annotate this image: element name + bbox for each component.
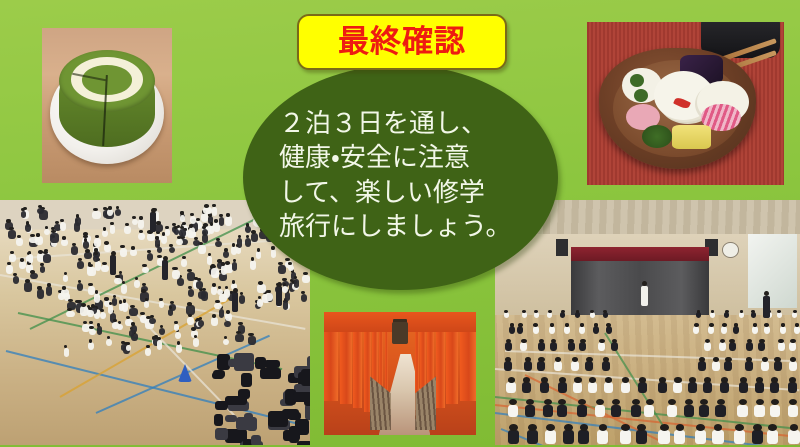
student-r-head-0-20 xyxy=(777,310,781,313)
student-4-27 xyxy=(221,265,227,275)
student-1-66 xyxy=(159,301,164,308)
student-r-head-4-7 xyxy=(622,377,629,383)
student-head-2-0 xyxy=(165,226,168,229)
torii-hanging-lantern xyxy=(392,322,407,344)
student-0-32 xyxy=(110,225,116,235)
student-r-head-4-9 xyxy=(659,377,666,383)
luggage-22 xyxy=(255,357,267,369)
cake-scene xyxy=(42,28,172,183)
student-head-0-0 xyxy=(103,227,106,230)
student-head-2-33 xyxy=(156,221,161,224)
student-r-2-0 xyxy=(505,342,512,351)
student-r-head-2-17 xyxy=(759,339,765,343)
gym-window xyxy=(748,234,797,308)
student-r-1-7 xyxy=(606,326,612,334)
student-head-0-25 xyxy=(76,214,80,217)
student-head-5-34 xyxy=(150,315,154,318)
student-5-57 xyxy=(122,302,127,312)
student-r-head-0-5 xyxy=(576,310,580,313)
student-r-head-3-2 xyxy=(538,357,544,362)
student-head-0-23 xyxy=(9,227,14,230)
student-r-head-4-15 xyxy=(756,377,763,383)
student-r-head-4-12 xyxy=(704,377,711,383)
student-head-1-50 xyxy=(182,256,186,259)
student-r-head-4-2 xyxy=(541,377,548,383)
student-r-1-4 xyxy=(564,326,570,334)
student-r-6-5 xyxy=(597,430,608,444)
student-r-2-18 xyxy=(778,342,785,351)
student-5-11 xyxy=(219,309,225,318)
luggage-34 xyxy=(214,414,223,425)
student-r-6-7 xyxy=(636,430,647,444)
standing-person-2 xyxy=(232,292,238,312)
student-2-15 xyxy=(161,235,167,244)
student-r-1-3 xyxy=(549,326,555,334)
student-head-5-58 xyxy=(212,314,216,317)
student-head-0-47 xyxy=(26,221,30,224)
student-3-17 xyxy=(203,207,212,214)
student-head-0-34 xyxy=(182,222,186,225)
student-4-4 xyxy=(301,294,308,302)
student-r-head-6-8 xyxy=(660,424,669,431)
student-r-4-8 xyxy=(638,382,647,394)
student-r-head-6-6 xyxy=(621,424,630,431)
student-5-33 xyxy=(193,338,199,348)
student-0-23 xyxy=(8,230,16,239)
student-head-1-24 xyxy=(212,283,216,286)
student-r-2-5 xyxy=(579,342,586,351)
student-r-head-4-4 xyxy=(574,377,581,383)
student-r-5-11 xyxy=(699,405,709,418)
student-head-3-23 xyxy=(210,222,213,225)
luggage-40 xyxy=(289,426,299,442)
student-1-29 xyxy=(71,246,78,255)
slide-canvas: ２泊３日を通し、 健康・安全に注意 して、楽しい修学 旅行にしましょう。 最終確… xyxy=(0,0,800,447)
student-head-3-17 xyxy=(204,204,209,207)
speech-bubble-text: ２泊３日を通し、 健康・安全に注意 して、楽しい修学 旅行にしましょう。 xyxy=(253,107,548,244)
student-1-26 xyxy=(112,298,117,306)
student-r-head-6-9 xyxy=(676,424,685,431)
student-r-3-2 xyxy=(537,361,545,371)
student-5-43 xyxy=(97,326,102,335)
student-r-head-0-18 xyxy=(751,310,755,313)
student-head-1-56 xyxy=(85,249,90,252)
student-0-31 xyxy=(124,226,131,234)
student-r-head-0-4 xyxy=(561,310,565,313)
student-0-6 xyxy=(138,219,144,229)
student-head-1-28 xyxy=(30,270,35,273)
student-r-0-15 xyxy=(710,312,715,318)
student-2-31 xyxy=(190,216,196,224)
student-5-8 xyxy=(248,336,257,345)
student-head-1-12 xyxy=(142,283,146,286)
student-r-head-1-14 xyxy=(709,323,714,327)
student-5-34 xyxy=(149,318,156,325)
luggage-18 xyxy=(264,360,280,368)
student-r-head-3-12 xyxy=(699,357,705,362)
standing-person-1 xyxy=(162,260,168,280)
student-r-4-7 xyxy=(621,382,630,394)
student-5-1 xyxy=(224,321,231,327)
student-r-1-2 xyxy=(533,326,539,334)
student-2-17 xyxy=(202,229,208,237)
student-head-1-10 xyxy=(131,246,135,249)
student-head-0-46 xyxy=(17,235,21,238)
student-3-23 xyxy=(209,225,214,233)
pickle-takuan xyxy=(672,125,711,149)
student-r-head-6-7 xyxy=(637,424,646,431)
student-r-5-15 xyxy=(770,405,780,418)
student-5-56 xyxy=(108,305,113,314)
student-0-0 xyxy=(102,230,108,237)
student-head-5-41 xyxy=(146,345,150,348)
student-r-head-6-2 xyxy=(546,424,555,431)
student-head-4-27 xyxy=(221,262,225,265)
student-1-52 xyxy=(198,291,206,299)
student-0-48 xyxy=(29,237,37,243)
student-2-23 xyxy=(138,233,145,240)
student-3-6 xyxy=(215,241,221,247)
student-0-15 xyxy=(198,245,206,254)
student-head-1-62 xyxy=(88,283,93,286)
student-r-4-13 xyxy=(720,382,729,394)
student-r-6-14 xyxy=(767,430,778,444)
student-r-head-0-21 xyxy=(793,310,797,313)
student-head-5-54 xyxy=(104,297,109,300)
stage-curtain xyxy=(571,261,708,315)
student-head-1-22 xyxy=(40,263,43,266)
student-r-5-10 xyxy=(684,405,694,418)
pickles-scene xyxy=(587,22,784,185)
standing-person-head-1 xyxy=(163,256,168,261)
student-r-4-17 xyxy=(788,382,797,394)
student-r-4-14 xyxy=(739,382,748,394)
student-r-3-15 xyxy=(745,361,753,371)
student-1-56 xyxy=(84,252,92,259)
student-head-0-6 xyxy=(139,216,143,219)
student-r-2-19 xyxy=(789,342,796,351)
student-head-2-18 xyxy=(214,219,218,222)
student-r-head-0-7 xyxy=(603,310,607,313)
student-head-3-5 xyxy=(226,213,230,216)
student-r-head-1-13 xyxy=(694,323,699,327)
student-r-head-4-17 xyxy=(789,377,796,383)
luggage-23 xyxy=(215,428,228,441)
student-r-0-6 xyxy=(590,312,595,318)
student-r-0-14 xyxy=(696,312,701,318)
student-head-5-42 xyxy=(226,310,230,313)
student-r-5-6 xyxy=(611,405,621,418)
student-head-5-8 xyxy=(248,333,253,336)
speech-bubble: ２泊３日を通し、 健康・安全に注意 して、楽しい修学 旅行にしましょう。 xyxy=(243,65,558,290)
student-r-head-4-1 xyxy=(523,377,530,383)
student-r-head-6-11 xyxy=(714,424,723,431)
student-5-29 xyxy=(129,308,138,316)
student-2-16 xyxy=(147,233,156,241)
photo-matcha-roll-cake xyxy=(42,28,172,183)
student-r-head-4-6 xyxy=(605,377,612,383)
student-head-1-11 xyxy=(78,258,82,261)
student-1-28 xyxy=(30,273,38,279)
standing-person-head-2 xyxy=(233,288,238,293)
student-r-head-6-3 xyxy=(564,424,573,431)
student-r-6-1 xyxy=(527,430,538,444)
student-head-0-28 xyxy=(95,235,99,238)
student-5-41 xyxy=(145,348,151,357)
student-head-1-54 xyxy=(94,252,98,255)
student-r-head-4-14 xyxy=(740,377,747,383)
photo-japanese-pickles xyxy=(587,22,784,185)
torii-scene xyxy=(324,312,476,435)
student-1-43 xyxy=(120,248,127,257)
student-r-head-6-14 xyxy=(768,424,777,431)
student-r-head-2-5 xyxy=(580,339,586,343)
student-5-25 xyxy=(198,320,204,327)
student-r-2-4 xyxy=(568,342,575,351)
student-head-1-58 xyxy=(25,279,30,282)
student-r-1-14 xyxy=(708,326,714,334)
student-r-6-13 xyxy=(752,430,763,444)
student-1-65 xyxy=(232,262,237,271)
luggage-12 xyxy=(225,396,247,404)
student-5-47 xyxy=(214,303,222,310)
student-r-4-1 xyxy=(522,382,531,394)
student-r-2-1 xyxy=(520,342,527,351)
photo-torii-gates xyxy=(324,312,476,435)
student-5-27 xyxy=(106,339,112,346)
teacher-body xyxy=(763,296,770,318)
student-r-5-8 xyxy=(644,405,654,418)
student-head-5-19 xyxy=(145,298,148,301)
student-r-head-0-16 xyxy=(725,310,729,313)
student-r-5-13 xyxy=(737,405,747,418)
student-3-13 xyxy=(237,238,242,248)
student-r-head-3-1 xyxy=(525,357,531,362)
student-r-head-4-11 xyxy=(689,377,696,383)
student-r-3-14 xyxy=(724,361,732,371)
student-1-2 xyxy=(188,289,194,297)
student-5-59 xyxy=(157,340,163,350)
student-r-4-12 xyxy=(703,382,712,394)
kamaboko-green-center-2 xyxy=(634,89,648,102)
student-r-head-3-5 xyxy=(586,357,592,362)
student-head-1-44 xyxy=(225,261,230,264)
student-r-6-12 xyxy=(734,430,745,444)
student-r-0-5 xyxy=(575,312,580,318)
student-head-1-35 xyxy=(142,264,147,267)
standing-person-4 xyxy=(150,212,156,232)
student-1-22 xyxy=(40,266,46,273)
student-1-21 xyxy=(223,251,229,257)
student-1-62 xyxy=(88,286,95,295)
student-r-0-7 xyxy=(603,312,608,318)
student-r-head-3-6 xyxy=(603,357,609,362)
student-5-58 xyxy=(211,317,218,325)
luggage-36 xyxy=(215,401,228,411)
student-r-head-3-18 xyxy=(790,357,796,362)
student-r-4-0 xyxy=(506,382,515,394)
student-r-head-3-13 xyxy=(713,357,719,362)
student-5-52 xyxy=(87,310,94,317)
student-5-20 xyxy=(223,339,228,345)
student-1-4 xyxy=(134,280,140,288)
student-5-51 xyxy=(64,348,69,357)
student-head-1-23 xyxy=(102,262,107,265)
student-r-4-4 xyxy=(573,382,582,394)
student-head-1-67 xyxy=(38,250,43,253)
student-r-2-3 xyxy=(550,342,557,351)
luggage-31 xyxy=(213,370,226,379)
student-2-5 xyxy=(155,239,160,248)
student-head-1-20 xyxy=(20,258,24,261)
student-4-17 xyxy=(219,294,227,302)
student-5-53 xyxy=(112,322,119,329)
student-5-6 xyxy=(168,309,173,316)
student-r-5-0 xyxy=(508,405,518,418)
stage-speaker-head xyxy=(642,281,647,286)
student-r-head-3-17 xyxy=(774,357,780,362)
student-r-4-9 xyxy=(658,382,667,394)
student-r-head-2-1 xyxy=(521,339,527,343)
student-r-4-10 xyxy=(673,382,682,394)
student-r-3-1 xyxy=(524,361,532,371)
student-head-5-38 xyxy=(174,321,177,324)
student-head-5-26 xyxy=(83,321,88,324)
student-head-5-39 xyxy=(131,322,135,325)
student-r-6-9 xyxy=(674,430,685,444)
luggage-3 xyxy=(297,441,310,445)
student-1-15 xyxy=(207,256,212,265)
luggage-15 xyxy=(307,356,310,369)
student-r-head-2-4 xyxy=(568,339,574,343)
student-5-12 xyxy=(66,311,75,317)
student-r-5-5 xyxy=(595,405,605,418)
student-0-2 xyxy=(61,239,69,245)
student-r-head-3-3 xyxy=(555,357,561,362)
student-r-head-1-20 xyxy=(795,323,800,327)
student-1-45 xyxy=(9,254,15,262)
student-r-head-4-5 xyxy=(589,377,596,383)
student-3-5 xyxy=(225,216,232,226)
luggage-29 xyxy=(234,353,255,371)
student-r-head-0-3 xyxy=(548,310,552,313)
student-r-1-16 xyxy=(733,326,739,334)
student-head-2-5 xyxy=(155,236,158,239)
student-r-head-2-18 xyxy=(778,339,784,343)
student-r-head-1-6 xyxy=(594,323,599,327)
student-head-5-40 xyxy=(89,339,92,342)
student-head-0-32 xyxy=(110,222,113,225)
student-r-head-1-15 xyxy=(722,323,727,327)
student-r-6-6 xyxy=(620,430,631,444)
student-r-1-6 xyxy=(593,326,599,334)
student-head-0-41 xyxy=(108,206,112,209)
student-r-1-1 xyxy=(517,326,523,334)
student-head-0-31 xyxy=(125,223,129,226)
student-head-1-34 xyxy=(95,290,99,293)
student-head-1-63 xyxy=(172,267,177,270)
student-r-head-0-0 xyxy=(504,310,508,313)
student-r-head-0-14 xyxy=(697,310,701,313)
luggage-37 xyxy=(301,369,310,386)
student-r-head-1-16 xyxy=(734,323,739,327)
student-r-head-1-3 xyxy=(550,323,555,327)
student-0-49 xyxy=(60,222,66,231)
student-r-head-2-6 xyxy=(599,339,605,343)
student-head-1-13 xyxy=(119,271,122,274)
student-head-2-17 xyxy=(202,226,206,229)
student-r-3-0 xyxy=(504,361,512,371)
student-r-3-4 xyxy=(571,361,579,371)
student-1-47 xyxy=(46,286,52,295)
luggage-45 xyxy=(247,418,256,431)
luggage-17 xyxy=(260,368,281,379)
student-head-0-43 xyxy=(84,238,88,241)
student-r-6-3 xyxy=(563,430,574,444)
student-r-5-14 xyxy=(754,405,764,418)
student-r-1-0 xyxy=(509,326,515,334)
student-1-34 xyxy=(94,293,100,302)
student-r-head-1-5 xyxy=(580,323,585,327)
student-r-head-1-17 xyxy=(753,323,758,327)
student-0-28 xyxy=(94,238,100,248)
student-5-35 xyxy=(159,328,165,336)
student-head-1-45 xyxy=(10,251,14,254)
student-4-30 xyxy=(217,289,223,295)
student-r-head-6-15 xyxy=(790,424,799,431)
student-r-head-0-15 xyxy=(711,310,715,313)
student-r-1-18 xyxy=(764,326,770,334)
student-1-19 xyxy=(169,247,175,254)
student-r-head-1-4 xyxy=(565,323,570,327)
student-r-4-16 xyxy=(770,382,779,394)
student-0-43 xyxy=(83,241,89,248)
student-1-10 xyxy=(130,249,137,256)
student-r-head-3-15 xyxy=(746,357,752,362)
student-r-head-0-2 xyxy=(534,310,538,313)
student-r-2-2 xyxy=(538,342,545,351)
student-r-head-4-16 xyxy=(771,377,778,383)
student-4-28 xyxy=(265,293,273,301)
student-head-0-33 xyxy=(104,241,109,244)
student-head-1-21 xyxy=(224,248,228,251)
student-r-3-6 xyxy=(602,361,610,371)
student-r-head-4-8 xyxy=(639,377,646,383)
student-1-38 xyxy=(61,289,69,297)
student-r-1-19 xyxy=(780,326,786,334)
student-r-head-6-0 xyxy=(509,424,518,431)
student-r-6-4 xyxy=(578,430,589,444)
student-r-4-5 xyxy=(588,382,597,394)
student-head-1-37 xyxy=(232,280,236,283)
student-r-head-1-2 xyxy=(533,323,538,327)
student-r-5-12 xyxy=(715,405,725,418)
student-4-23 xyxy=(257,299,263,307)
student-1-17 xyxy=(77,283,82,292)
student-head-3-18 xyxy=(212,204,216,207)
student-r-head-4-10 xyxy=(674,377,681,383)
student-r-head-0-17 xyxy=(740,310,744,313)
student-1-59 xyxy=(121,284,127,294)
student-r-head-2-19 xyxy=(790,339,796,343)
student-head-5-17 xyxy=(191,327,196,330)
student-r-head-6-10 xyxy=(696,424,705,431)
title-banner: 最終確認 xyxy=(297,14,507,70)
student-head-2-30 xyxy=(219,214,222,217)
student-r-head-1-19 xyxy=(781,323,786,327)
student-head-1-2 xyxy=(188,286,192,289)
student-head-5-48 xyxy=(177,341,181,344)
